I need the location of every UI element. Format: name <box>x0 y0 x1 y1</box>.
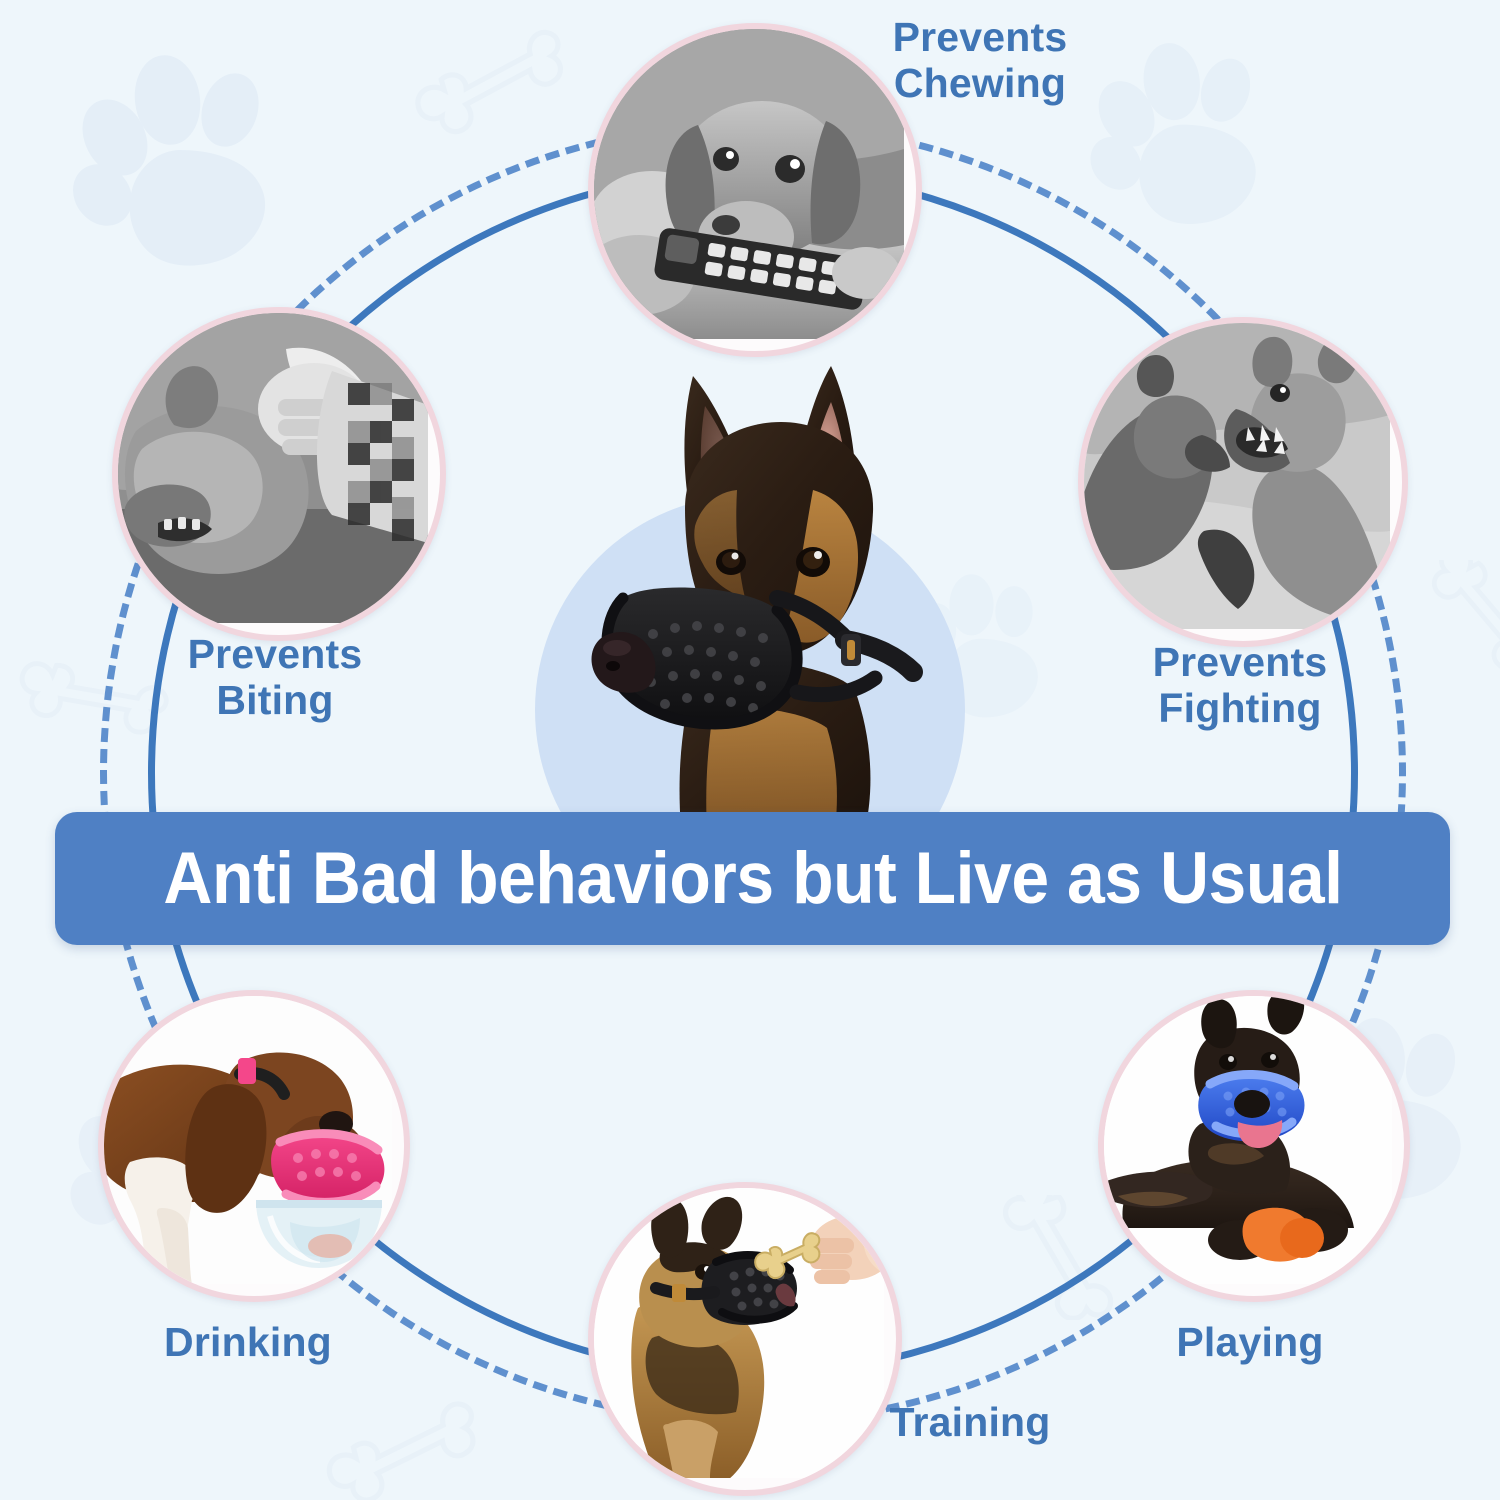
feature-photo-training[interactable] <box>588 1182 902 1496</box>
feature-label-chewing: Prevents Chewing <box>830 15 1130 107</box>
feature-label-fighting-line2: Fighting <box>1090 686 1390 732</box>
feature-label-training: Training <box>820 1400 1120 1446</box>
feature-label-drinking-line1: Drinking <box>98 1320 398 1366</box>
feature-label-drinking: Drinking <box>98 1320 398 1366</box>
feature-label-biting-line2: Biting <box>125 678 425 724</box>
feature-label-playing: Playing <box>1100 1320 1400 1366</box>
feature-photo-fighting[interactable] <box>1078 317 1408 647</box>
infographic-canvas: Prevents Chewing <box>0 0 1500 1500</box>
headline-banner-text: Anti Bad behaviors but Live as Usual <box>163 837 1342 920</box>
feature-label-biting: Prevents Biting <box>125 632 425 724</box>
feature-label-biting-line1: Prevents <box>125 632 425 678</box>
feature-photo-playing[interactable] <box>1098 990 1410 1302</box>
bone-watermark <box>408 25 593 145</box>
headline-banner: Anti Bad behaviors but Live as Usual <box>55 812 1450 945</box>
feature-label-chewing-line2: Chewing <box>830 61 1130 107</box>
feature-label-playing-line1: Playing <box>1100 1320 1400 1366</box>
feature-label-fighting: Prevents Fighting <box>1090 640 1390 732</box>
feature-label-fighting-line1: Prevents <box>1090 640 1390 686</box>
feature-photo-biting[interactable] <box>112 307 446 641</box>
bone-watermark <box>1400 560 1500 675</box>
bone-watermark <box>320 1395 505 1500</box>
feature-photo-drinking[interactable] <box>98 990 410 1302</box>
center-hero-dog-with-muzzle <box>545 340 965 830</box>
feature-label-chewing-line1: Prevents <box>830 15 1130 61</box>
paw-print-watermark <box>55 35 305 295</box>
feature-label-training-line1: Training <box>820 1400 1120 1446</box>
